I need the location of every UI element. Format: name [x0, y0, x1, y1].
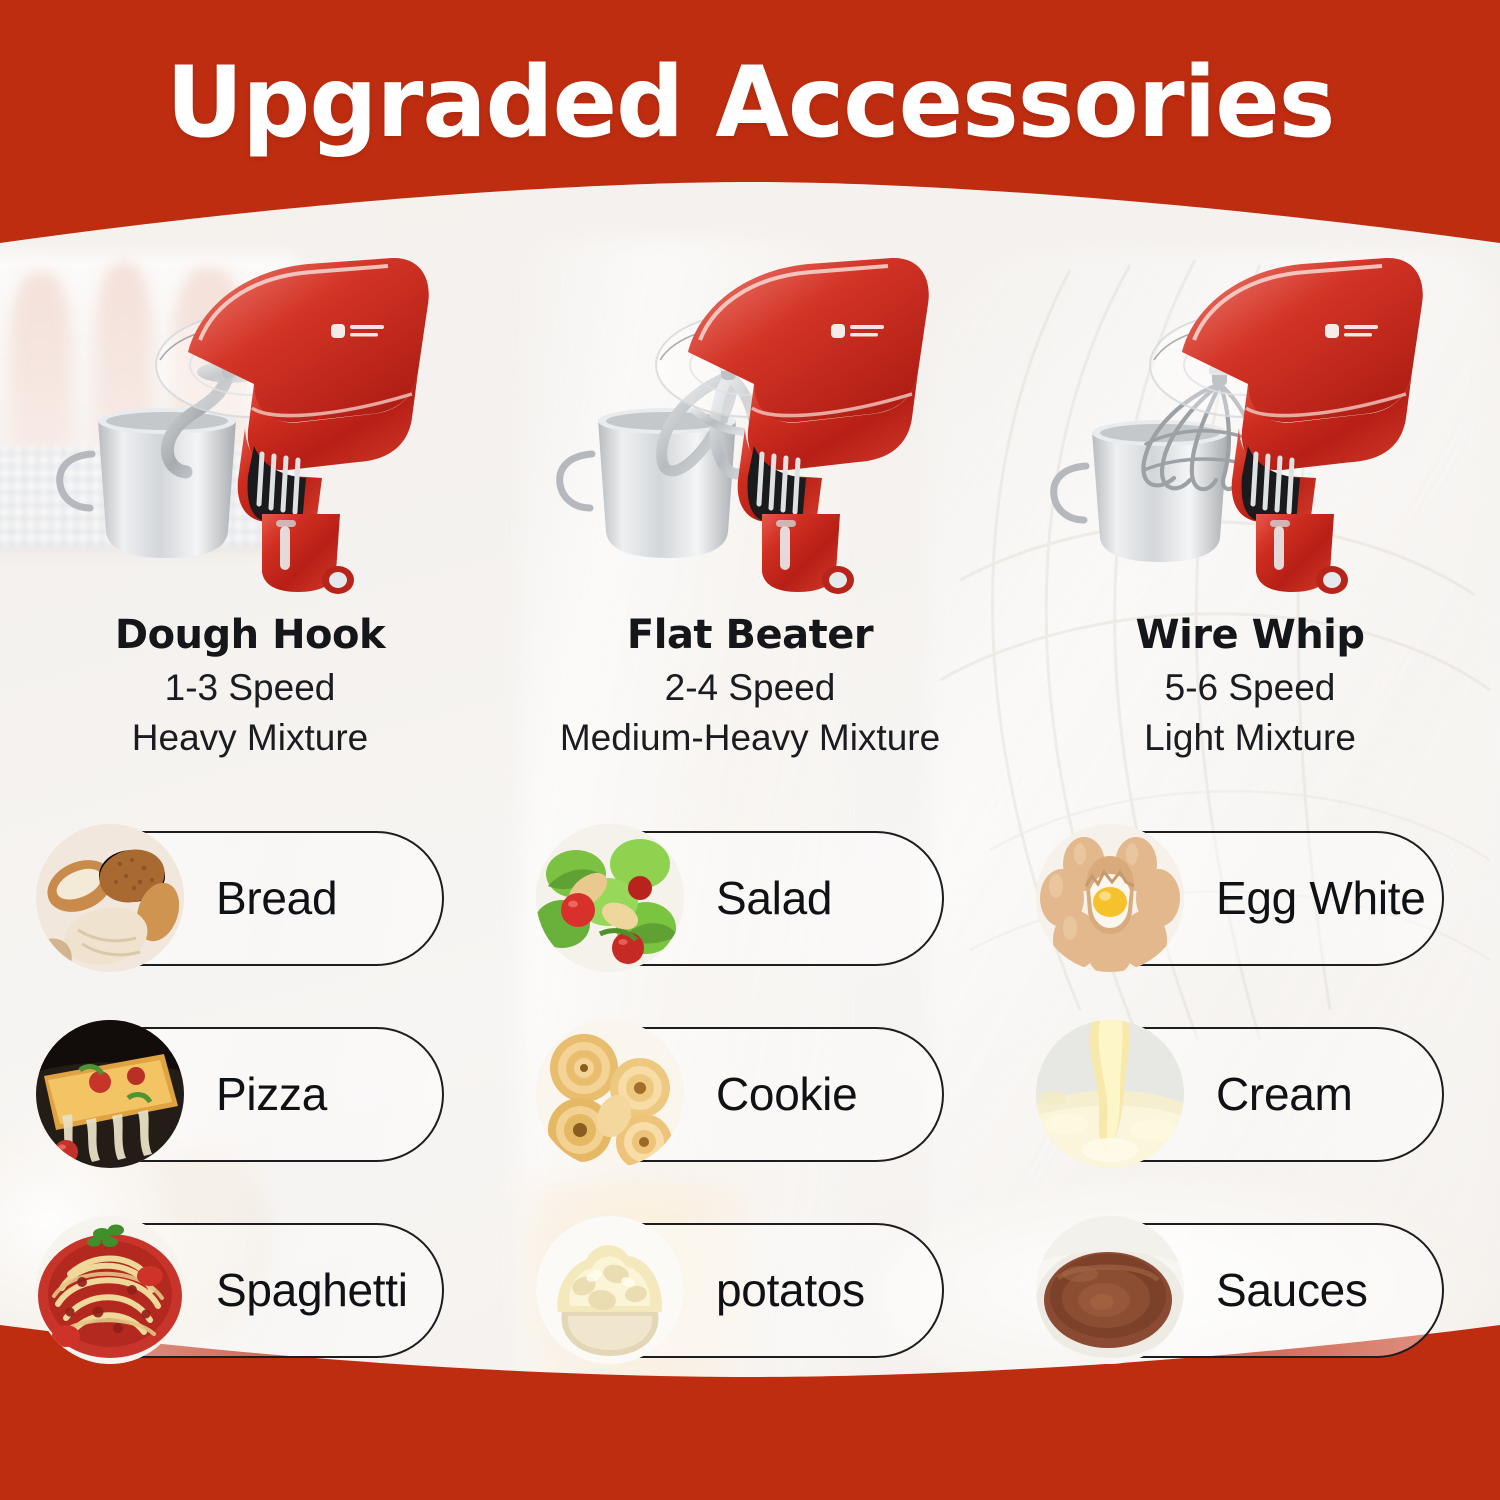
accessory-mixture: Heavy Mixture [8, 714, 492, 761]
cookie-image [536, 1020, 684, 1168]
food-pill-bread[interactable]: Bread [56, 831, 444, 966]
pill-slot: Pizza [0, 996, 500, 1192]
bread-image [36, 824, 184, 972]
food-pills-grid: Bread [0, 800, 1500, 1388]
accessory-speed: 5-6 Speed [1008, 664, 1492, 711]
accessory-name: Flat Beater [508, 612, 992, 658]
pill-slot: Bread [0, 800, 500, 996]
food-pill-salad[interactable]: Salad [556, 831, 944, 966]
stand-mixer-wire-whip-image [1040, 232, 1460, 612]
food-pill-pizza[interactable]: Pizza [56, 1027, 444, 1162]
accessory-mixture: Medium-Heavy Mixture [508, 714, 992, 761]
mixer-cell-dough-hook [0, 232, 500, 612]
sauces-image [1036, 1216, 1184, 1364]
stand-mixer-flat-beater-image [540, 232, 960, 612]
food-pill-cream[interactable]: Cream [1056, 1027, 1444, 1162]
pill-slot: Cookie [500, 996, 1000, 1192]
pill-slot: potatos [500, 1192, 1000, 1388]
mixer-cell-wire-whip [1000, 232, 1500, 612]
cream-image [1036, 1020, 1184, 1168]
stand-mixer-dough-hook-image [40, 232, 460, 612]
food-pill-egg-white[interactable]: Egg White [1056, 831, 1444, 966]
egg-white-image [1036, 824, 1184, 972]
page-title: Upgraded Accessories [166, 54, 1334, 152]
pill-slot: Spaghetti [0, 1192, 500, 1388]
accessory-heading-flat-beater: Flat Beater 2-4 Speed Medium-Heavy Mixtu… [500, 612, 1000, 761]
pizza-image [36, 1020, 184, 1168]
page-title-container: Upgraded Accessories [0, 0, 1500, 205]
salad-image [536, 824, 684, 972]
food-label: Cream [1216, 1067, 1353, 1121]
food-pill-spaghetti[interactable]: Spaghetti [56, 1223, 444, 1358]
food-pill-sauces[interactable]: Sauces [1056, 1223, 1444, 1358]
food-label: Sauces [1216, 1263, 1368, 1317]
food-label: Cookie [716, 1067, 857, 1121]
pill-slot: Cream [1000, 996, 1500, 1192]
accessory-mixture: Light Mixture [1008, 714, 1492, 761]
accessory-name: Wire Whip [1008, 612, 1492, 658]
accessory-heading-dough-hook: Dough Hook 1-3 Speed Heavy Mixture [0, 612, 500, 761]
potatos-image [536, 1216, 684, 1364]
mixer-cell-flat-beater [500, 232, 1000, 612]
food-label: Bread [216, 871, 337, 925]
food-label: Pizza [216, 1067, 327, 1121]
food-label: Spaghetti [216, 1263, 408, 1317]
mixer-images-row [0, 232, 1500, 612]
food-pill-potatos[interactable]: potatos [556, 1223, 944, 1358]
spaghetti-image [36, 1216, 184, 1364]
food-label: Egg White [1216, 871, 1426, 925]
accessory-speed: 1-3 Speed [8, 664, 492, 711]
infographic-page: Upgraded Accessories [0, 0, 1500, 1500]
accessory-headings-row: Dough Hook 1-3 Speed Heavy Mixture Flat … [0, 612, 1500, 761]
food-label: potatos [716, 1263, 865, 1317]
pill-slot: Sauces [1000, 1192, 1500, 1388]
pill-slot: Egg White [1000, 800, 1500, 996]
accessory-name: Dough Hook [8, 612, 492, 658]
food-pill-cookie[interactable]: Cookie [556, 1027, 944, 1162]
accessory-heading-wire-whip: Wire Whip 5-6 Speed Light Mixture [1000, 612, 1500, 761]
pill-slot: Salad [500, 800, 1000, 996]
accessory-speed: 2-4 Speed [508, 664, 992, 711]
mixing-bowl [60, 408, 236, 558]
food-label: Salad [716, 871, 832, 925]
